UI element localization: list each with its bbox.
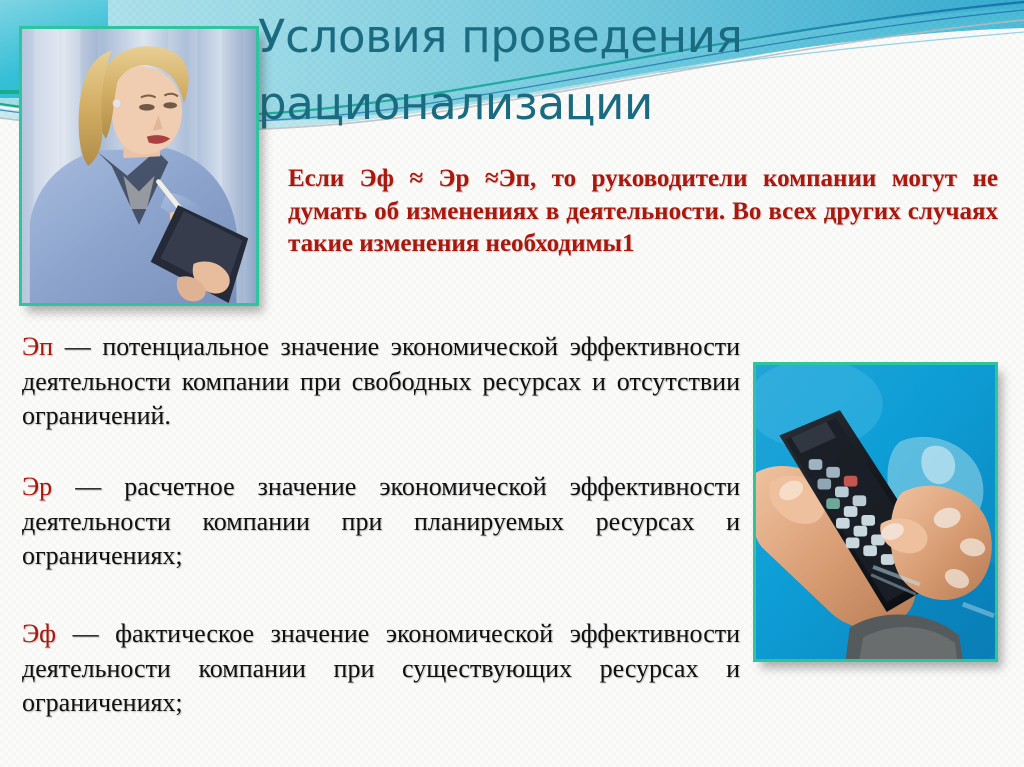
dash-ep: — (65, 332, 91, 361)
definition-er-text: расчетное значение экономической эффекти… (22, 472, 740, 570)
hands-dialing-phone-photo (753, 362, 998, 662)
definition-er-paragraph: Эр — расчетное значение экономической эф… (22, 470, 740, 574)
slide-title: Условия проведения рационализации (258, 4, 998, 137)
intro-paragraph: Если Эф ≈ Эр ≈Эп, то руководители компан… (288, 163, 998, 261)
definition-ef-text: фактическое значение экономической эффек… (22, 619, 740, 717)
definition-ef-paragraph: Эф — фактическое значение экономической … (22, 617, 740, 721)
term-ef: Эф (22, 619, 56, 648)
term-er: Эр (22, 472, 52, 501)
businesswoman-writing-photo (19, 26, 259, 306)
dash-ef: — (73, 619, 99, 648)
term-ep: Эп (22, 332, 53, 361)
presentation-slide: Условия проведения рационализации (0, 0, 1024, 767)
definition-ep-paragraph: Эп — потенциальное значение экономическо… (22, 330, 740, 434)
dash-er: — (75, 472, 101, 501)
definition-ep-text: потенциальное значение экономической эфф… (22, 332, 740, 430)
